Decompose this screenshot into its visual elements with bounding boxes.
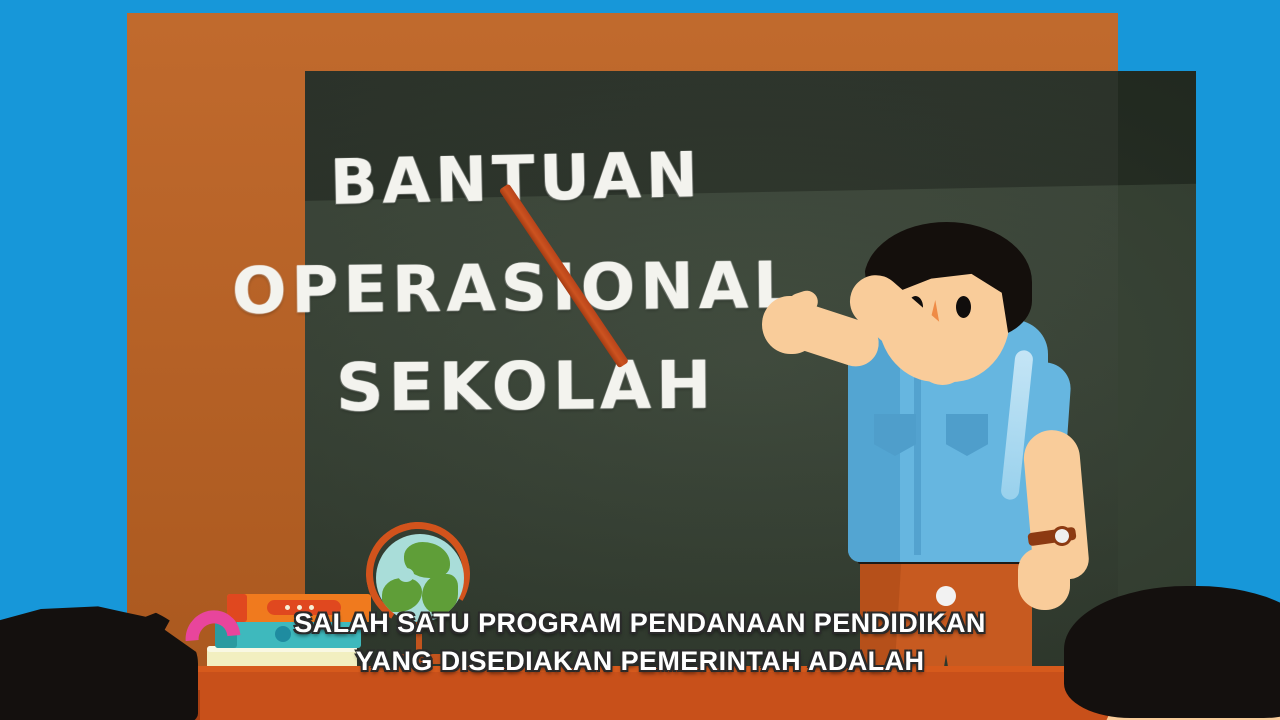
- book-top-dot-3: [309, 605, 314, 610]
- student-right-character: [1064, 586, 1280, 720]
- globe-base: [396, 654, 444, 664]
- globe-continent-3: [422, 574, 458, 614]
- globe-continent-1: [382, 578, 422, 612]
- chalk-line-2: OPERASIONAL: [232, 249, 800, 329]
- book-middle-dot: [275, 626, 291, 642]
- globe-sphere: [376, 534, 464, 622]
- book-top-band: [267, 600, 341, 615]
- globe-stem: [416, 622, 422, 656]
- globe-ocean-spot: [398, 568, 414, 582]
- video-frame: BANTUAN OPERASIONAL SEKOLAH: [0, 0, 1280, 720]
- student-right-hair: [1064, 586, 1280, 718]
- book-top-dot-1: [285, 605, 290, 610]
- student-left-hair: [0, 596, 198, 720]
- globe-icon: [360, 514, 478, 674]
- book-top-dot-2: [297, 605, 302, 610]
- teacher-hand-on-hip: [1018, 548, 1070, 610]
- student-left-character: [0, 596, 198, 720]
- chalk-line-3: SEKOLAH: [336, 347, 717, 427]
- teacher-eye-right: [956, 296, 971, 318]
- teacher-trouser-button: [936, 586, 956, 606]
